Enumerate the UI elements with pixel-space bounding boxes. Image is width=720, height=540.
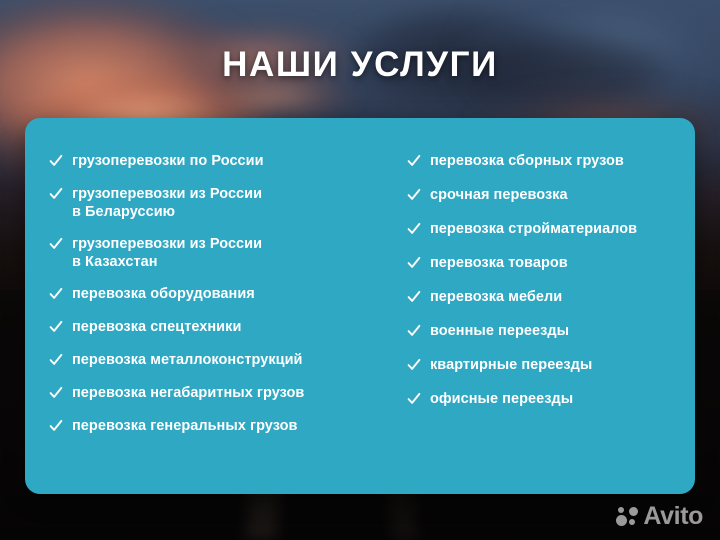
service-item[interactable]: офисные переезды — [407, 390, 695, 408]
check-icon — [49, 353, 63, 367]
service-item[interactable]: военные переезды — [407, 322, 695, 340]
service-item[interactable]: перевозка оборудования — [49, 285, 407, 303]
services-columns: грузоперевозки по России грузоперевозки … — [25, 118, 695, 494]
check-icon — [407, 324, 421, 338]
service-item-label: перевозка стройматериалов — [430, 220, 637, 238]
service-item-label: грузоперевозки из России в Казахстан — [72, 235, 262, 271]
service-item[interactable]: грузоперевозки из России в Беларуссию — [49, 185, 407, 221]
service-item-label: квартирные переезды — [430, 356, 592, 374]
service-item-label: перевозка негабаритных грузов — [72, 384, 304, 402]
service-item[interactable]: перевозка товаров — [407, 254, 695, 272]
services-panel: грузоперевозки по России грузоперевозки … — [25, 118, 695, 494]
service-item-label: грузоперевозки по России — [72, 152, 264, 170]
service-item-label: перевозка металлоконструкций — [72, 351, 303, 369]
service-item-label: офисные переезды — [430, 390, 573, 408]
services-right-column: перевозка сборных грузов срочная перевоз… — [407, 118, 695, 494]
service-item[interactable]: перевозка спецтехники — [49, 318, 407, 336]
service-item[interactable]: грузоперевозки по России — [49, 152, 407, 170]
check-icon — [49, 386, 63, 400]
avito-dots-icon — [616, 506, 638, 527]
service-item-label: перевозка товаров — [430, 254, 568, 272]
service-item[interactable]: перевозка мебели — [407, 288, 695, 306]
services-left-column: грузоперевозки по России грузоперевозки … — [25, 118, 407, 494]
service-item-label: перевозка спецтехники — [72, 318, 241, 336]
service-item-label: перевозка оборудования — [72, 285, 255, 303]
check-icon — [407, 188, 421, 202]
service-item[interactable]: грузоперевозки из России в Казахстан — [49, 235, 407, 271]
avito-watermark: Avito — [616, 504, 703, 529]
check-icon — [49, 287, 63, 301]
service-item-label: перевозка генеральных грузов — [72, 417, 298, 435]
service-item-label: грузоперевозки из России в Беларуссию — [72, 185, 262, 221]
check-icon — [407, 222, 421, 236]
check-icon — [49, 154, 63, 168]
service-item-label: военные переезды — [430, 322, 569, 340]
service-item[interactable]: перевозка сборных грузов — [407, 152, 695, 170]
check-icon — [49, 320, 63, 334]
service-item[interactable]: срочная перевозка — [407, 186, 695, 204]
check-icon — [407, 154, 421, 168]
service-item-label: перевозка мебели — [430, 288, 562, 306]
check-icon — [407, 256, 421, 270]
check-icon — [407, 290, 421, 304]
service-item[interactable]: перевозка негабаритных грузов — [49, 384, 407, 402]
page-title: НАШИ УСЛУГИ — [0, 47, 720, 82]
service-item-label: срочная перевозка — [430, 186, 568, 204]
avito-wordmark: Avito — [643, 504, 703, 529]
poster-canvas: НАШИ УСЛУГИ грузоперевозки по России — [0, 0, 720, 540]
check-icon — [407, 358, 421, 372]
check-icon — [49, 419, 63, 433]
check-icon — [49, 237, 63, 251]
service-item[interactable]: перевозка стройматериалов — [407, 220, 695, 238]
check-icon — [49, 187, 63, 201]
check-icon — [407, 392, 421, 406]
service-item-label: перевозка сборных грузов — [430, 152, 624, 170]
service-item[interactable]: квартирные переезды — [407, 356, 695, 374]
service-item[interactable]: перевозка генеральных грузов — [49, 417, 407, 435]
service-item[interactable]: перевозка металлоконструкций — [49, 351, 407, 369]
